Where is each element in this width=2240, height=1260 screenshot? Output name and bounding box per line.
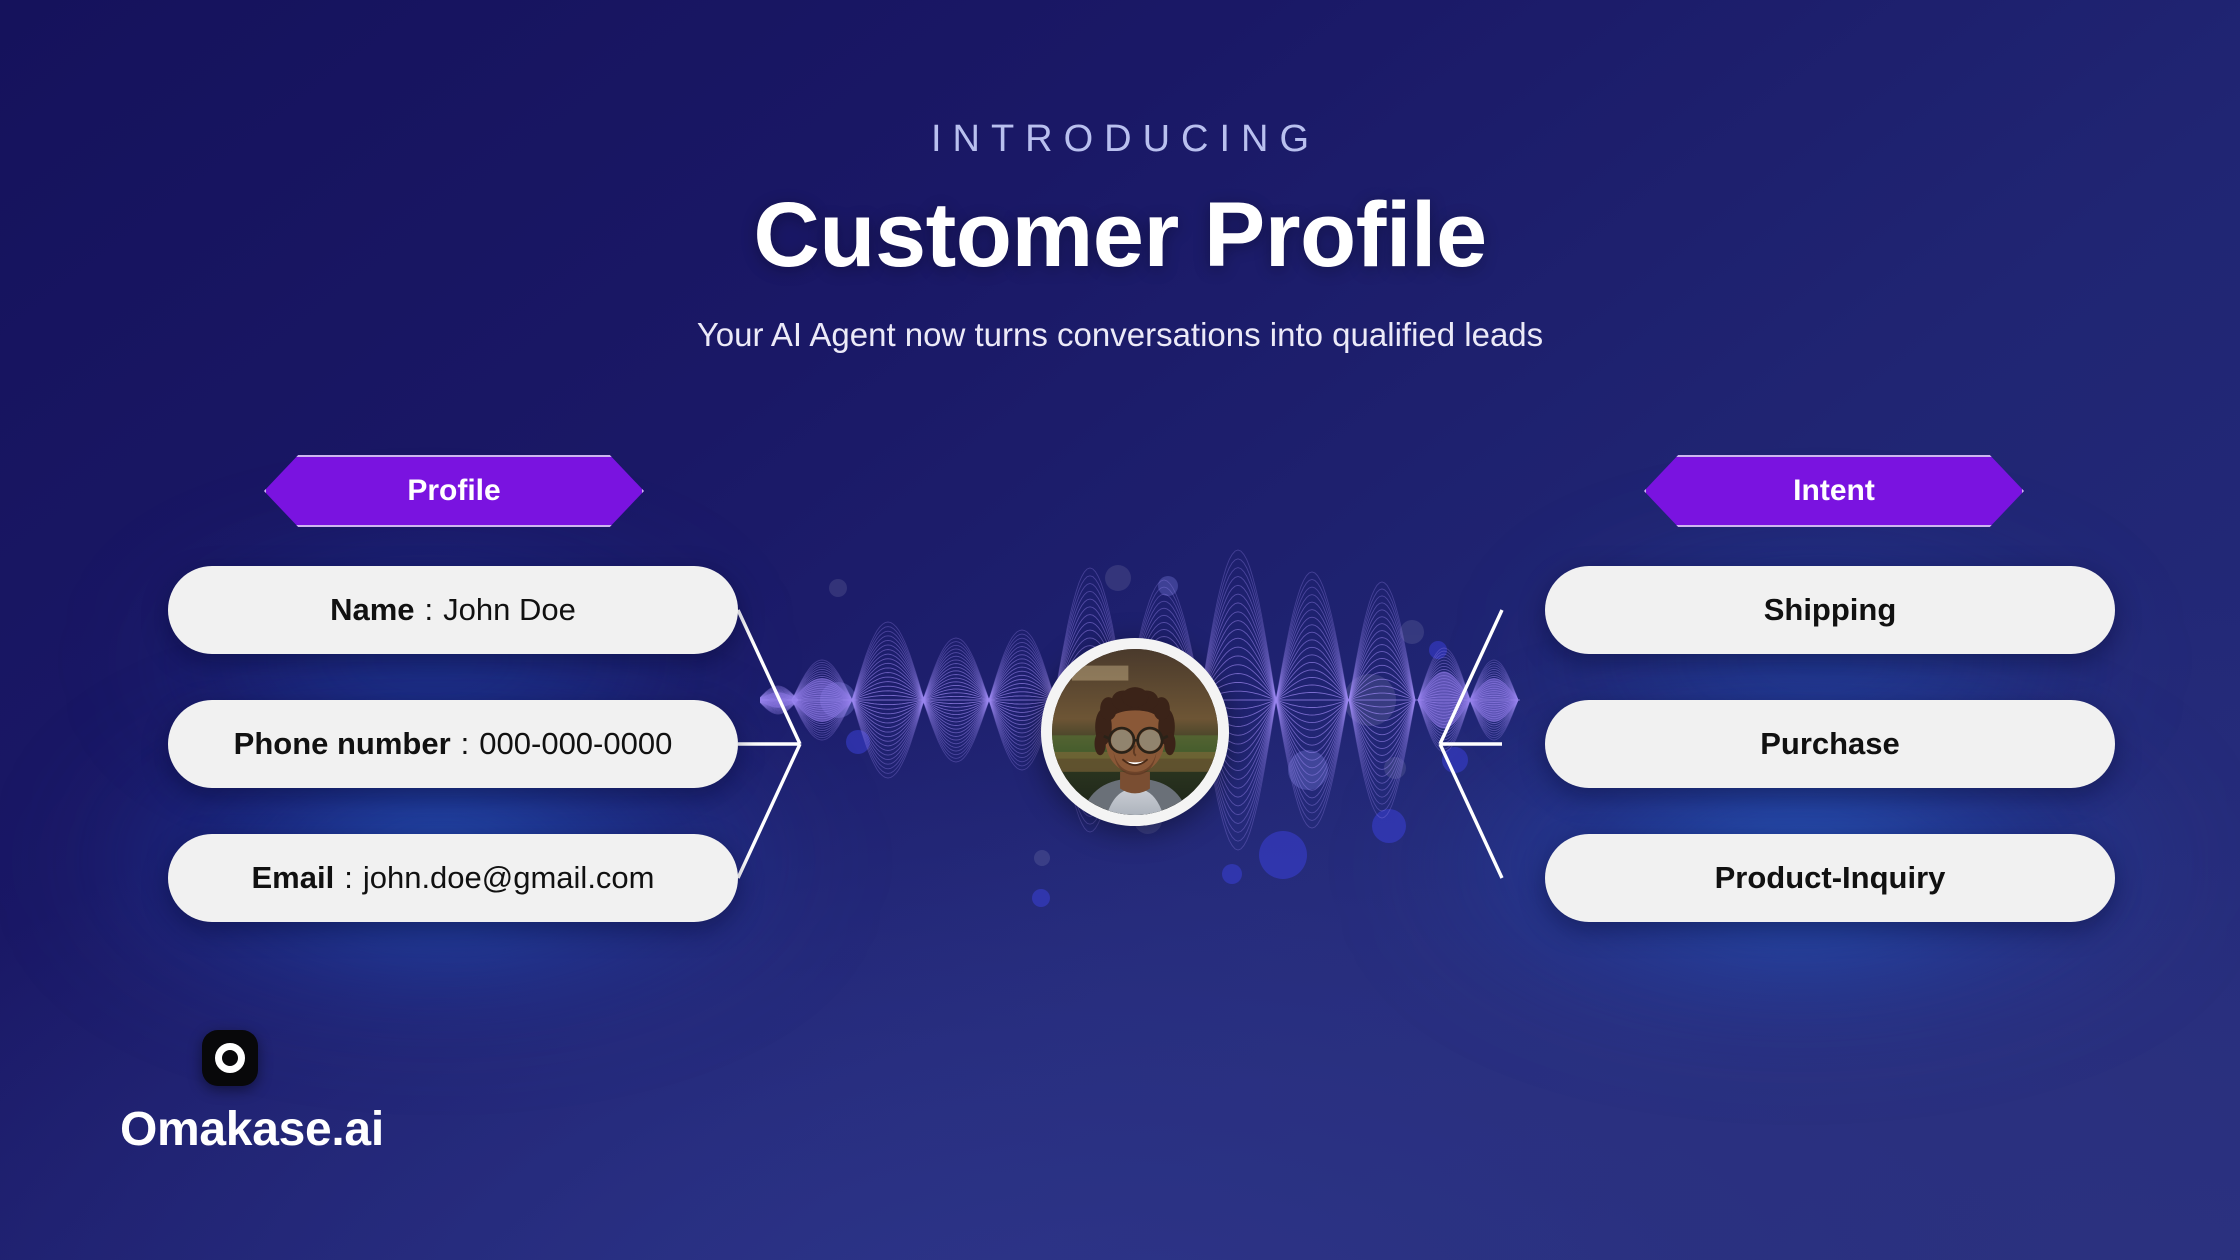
profile-badge-label: Profile — [407, 474, 500, 508]
intent-row-product-inquiry[interactable]: Product-Inquiry — [1545, 834, 2115, 922]
profile-row-name-separator: : — [425, 592, 434, 628]
page-title: Customer Profile — [0, 183, 2240, 288]
profile-row-email-separator: : — [344, 860, 353, 896]
intent-badge-label: Intent — [1793, 474, 1875, 508]
profile-row-phone-separator: : — [461, 726, 470, 762]
ring-logo-inner — [215, 1043, 245, 1073]
profile-row-email-label: Email — [251, 860, 334, 896]
profile-row-name[interactable]: Name : John Doe — [168, 566, 738, 654]
intent-row-shipping[interactable]: Shipping — [1545, 566, 2115, 654]
avatar-portrait-icon — [1052, 649, 1218, 815]
profile-row-phone[interactable]: Phone number : 000-000-0000 — [168, 700, 738, 788]
intent-row-purchase[interactable]: Purchase — [1545, 700, 2115, 788]
brand-name: Omakase.ai — [120, 1102, 384, 1157]
page-subtitle: Your AI Agent now turns conversations in… — [0, 316, 2240, 354]
intent-badge: Intent — [1644, 455, 2024, 527]
profile-row-email[interactable]: Email : john.doe@gmail.com — [168, 834, 738, 922]
profile-row-email-value: john.doe@gmail.com — [363, 860, 655, 896]
profile-row-name-label: Name — [330, 592, 414, 628]
header: INTRODUCING Customer Profile Your AI Age… — [0, 0, 2240, 354]
brand-logo: Omakase.ai — [120, 1030, 384, 1157]
profile-row-phone-value: 000-000-0000 — [479, 726, 672, 762]
eyebrow-text: INTRODUCING — [0, 118, 2240, 161]
profile-row-name-value: John Doe — [443, 592, 576, 628]
avatar — [1041, 638, 1229, 826]
profile-badge: Profile — [264, 455, 644, 527]
avatar-photo — [1052, 649, 1218, 815]
profile-row-phone-label: Phone number — [234, 726, 451, 762]
ring-logo-icon — [202, 1030, 258, 1086]
